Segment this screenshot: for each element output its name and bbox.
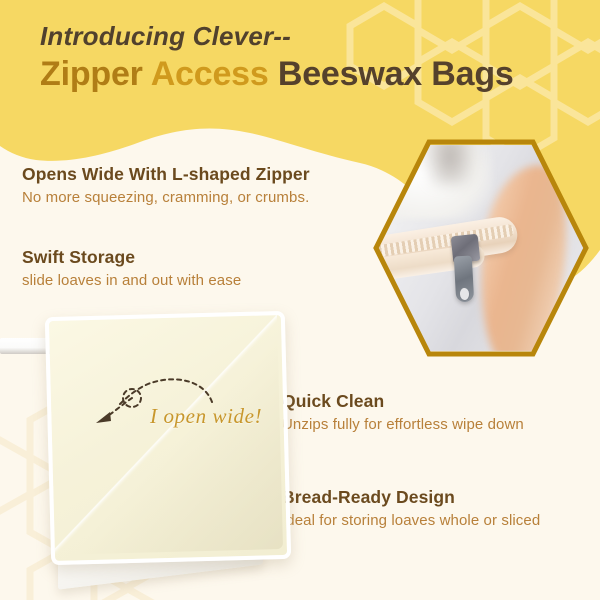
product-photo-beeswax-bag — [18, 300, 284, 585]
page-title: Zipper Access Beeswax Bags — [40, 55, 580, 93]
open-wide-callout: I open wide! — [150, 404, 262, 429]
title-word-access: Access — [151, 55, 269, 93]
infographic-canvas: Introducing Clever-- Zipper Access Beesw… — [0, 0, 600, 600]
feature-block-3: Quick Clean Unzips fully for effortless … — [282, 392, 592, 434]
bag-main-panel — [45, 311, 291, 565]
feature-body-2: slide loaves in and out with ease — [22, 272, 352, 290]
feature-block-1: Opens Wide With L-shaped Zipper No more … — [22, 165, 382, 207]
feature-body-1: No more squeezing, cramming, or crumbs. — [22, 189, 382, 207]
feature-block-4: Bread-Ready Design Ideal for storing loa… — [282, 488, 594, 530]
feature-block-2: Swift Storage slide loaves in and out wi… — [22, 248, 352, 290]
feature-heading-2: Swift Storage — [22, 248, 352, 267]
feature-heading-4: Bread-Ready Design — [282, 488, 594, 507]
header-kicker: Introducing Clever-- — [40, 22, 580, 52]
title-word-zipper: Zipper — [40, 55, 143, 93]
hexagon-photo-frame — [372, 138, 590, 358]
header-text-group: Introducing Clever-- Zipper Access Beesw… — [40, 22, 580, 93]
hexagon-border — [372, 138, 590, 358]
feature-heading-3: Quick Clean — [282, 392, 592, 411]
feature-body-3: Unzips fully for effortless wipe down — [282, 416, 592, 434]
feature-heading-1: Opens Wide With L-shaped Zipper — [22, 165, 382, 184]
feature-body-4: Ideal for storing loaves whole or sliced — [282, 512, 594, 530]
title-word-beeswax-bags: Beeswax Bags — [278, 55, 514, 93]
